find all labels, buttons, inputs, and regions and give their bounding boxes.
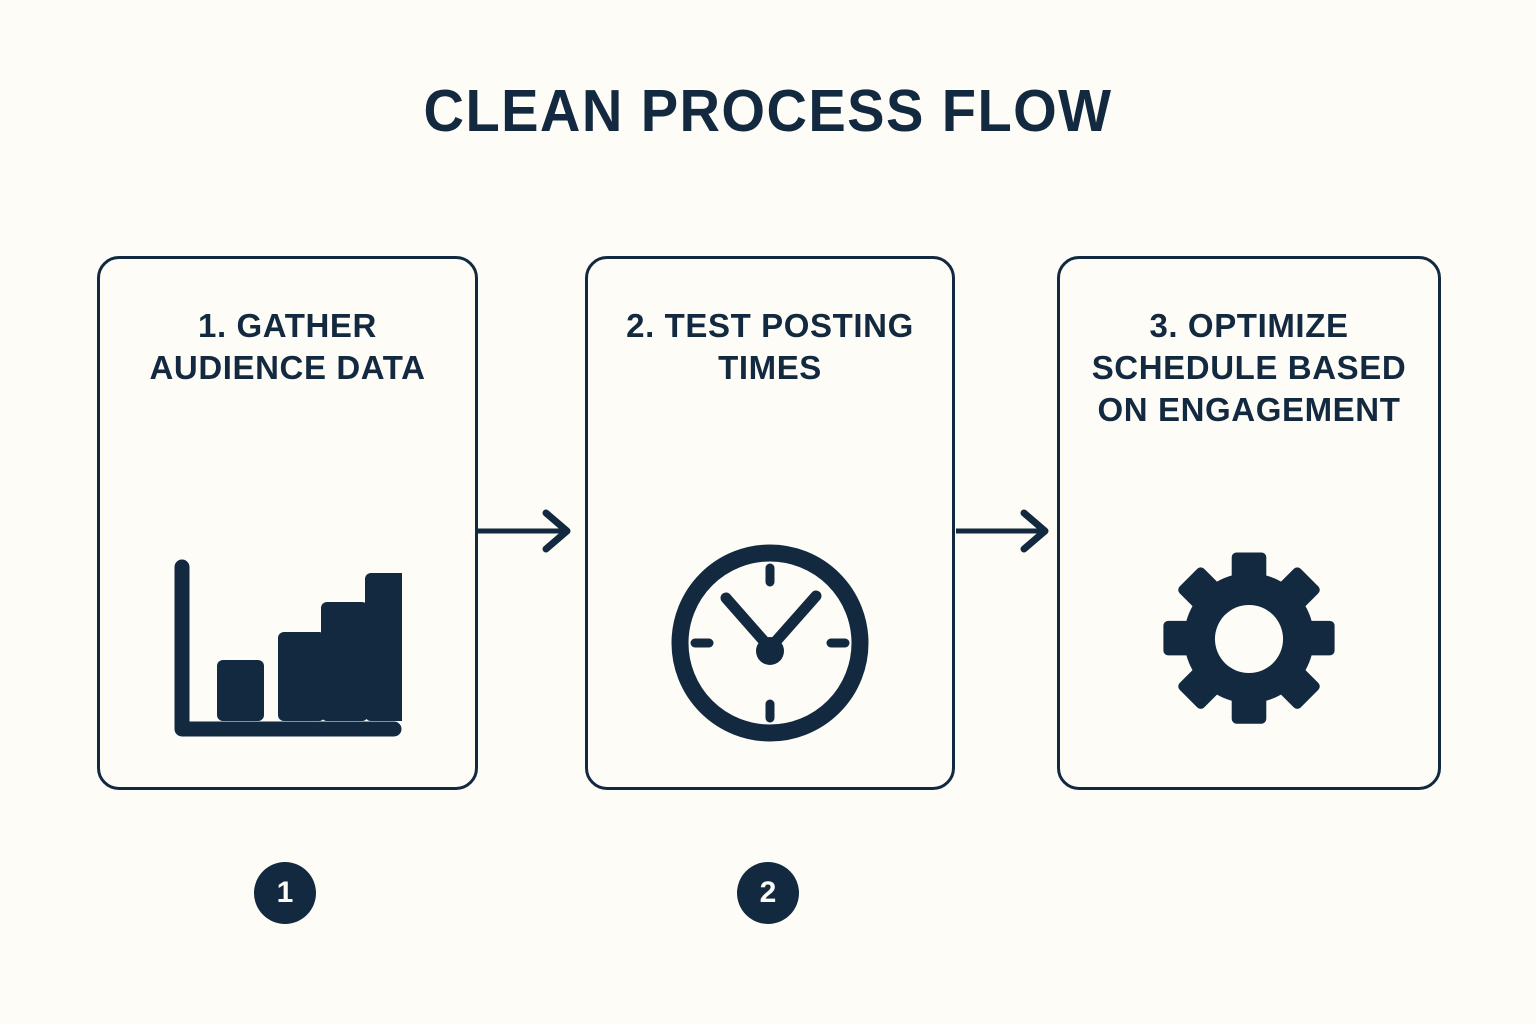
step-badge-2: 2 [737,862,799,924]
gear-icon [1157,547,1341,731]
connector-arrow-2 [956,508,1064,554]
diagram-canvas: CLEAN PROCESS FLOW 1. GATHER AUDIENCE DA… [0,0,1536,1024]
step-1-icon-wrapper [100,559,475,745]
page-title: CLEAN PROCESS FLOW [38,82,1497,141]
step-2-label: 2. TEST POSTING TIMES [602,305,938,389]
arrow-right-icon [478,508,586,554]
step-badge-1: 1 [254,862,316,924]
process-step-card-3[interactable]: 3. OPTIMIZE SCHEDULE BASED ON ENGAGEMENT [1057,256,1441,790]
step-1-label: 1. GATHER AUDIENCE DATA [114,305,461,389]
bar-chart-icon [174,559,402,745]
clock-icon [668,541,872,745]
step-3-icon-wrapper [1060,547,1438,731]
step-3-label: 3. OPTIMIZE SCHEDULE BASED ON ENGAGEMENT [1074,305,1424,432]
step-2-icon-wrapper [588,541,952,745]
process-step-card-2[interactable]: 2. TEST POSTING TIMES [585,256,955,790]
process-step-card-1[interactable]: 1. GATHER AUDIENCE DATA [97,256,478,790]
connector-arrow-1 [478,508,586,554]
arrow-right-icon [956,508,1064,554]
